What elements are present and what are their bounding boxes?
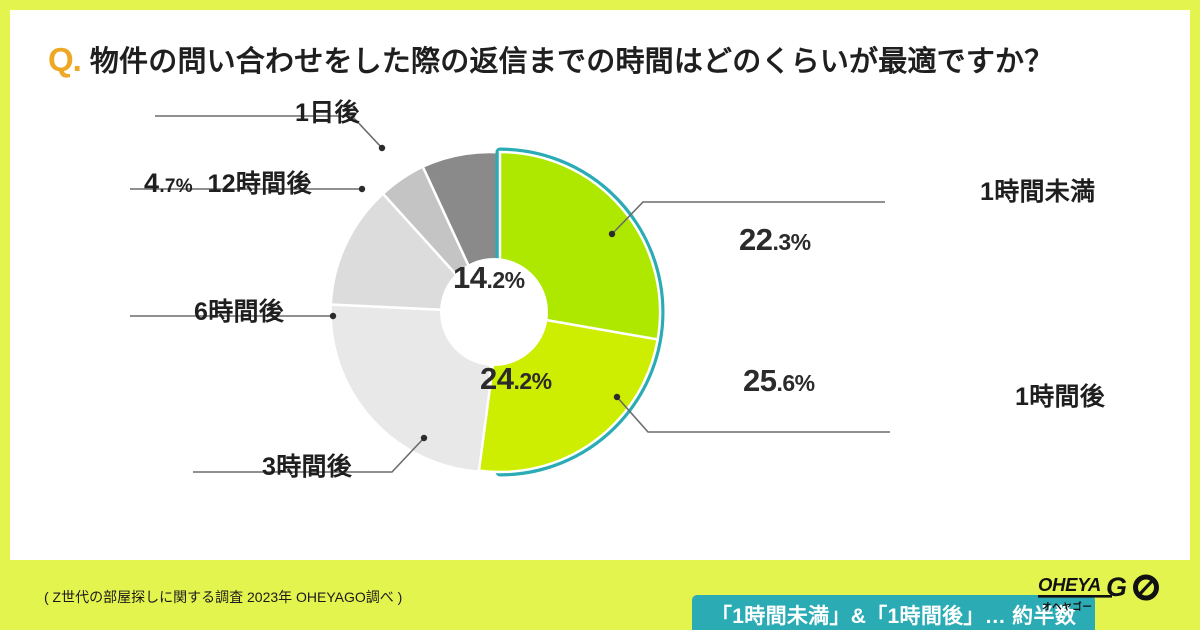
logo-underline [1038, 595, 1112, 598]
logo-o-slash [1139, 580, 1153, 595]
slice-value-6hours: 14.2% [453, 260, 525, 296]
page-title: Q. 物件の問い合わせをした際の返信までの時間はどのくらいが最適ですか？ [48, 38, 1053, 80]
source-note: ( Z世代の部屋探しに関する調査 2023年 OHEYAGO調べ ) [44, 587, 402, 607]
callout-label-under1hour: 1時間未満 [980, 172, 1095, 208]
leader-line-1hour [614, 394, 890, 432]
logo-kana-text: オヘヤゴー [1042, 601, 1093, 613]
callout-label-12hours: 4.7% 12時間後 [144, 164, 312, 200]
logo-go-text: G [1106, 572, 1127, 602]
content-card: Q. 物件の問い合わせをした際の返信までの時間はどのくらいが最適ですか？ [10, 10, 1190, 560]
summary-badge: 「1時間未満」&「1時間後」… 約半数 [692, 595, 1095, 630]
summary-badge-text: 「1時間未満」&「1時間後」… 約半数 [711, 600, 1076, 630]
callout-label-6hours: 6時間後 [194, 292, 284, 328]
question-mark-label: Q. [48, 41, 81, 79]
pie-chart: 9.0% 14.2% 24.2% 22.3% 25.6% 1日後 4.7% 12… [10, 92, 1190, 562]
slice-value-1day: 9.0% [642, 171, 697, 207]
question-text: 物件の問い合わせをした際の返信までの時間はどのくらいが最適ですか？ [90, 38, 1054, 80]
callout-label-3hours: 3時間後 [262, 447, 352, 483]
callout-label-1day: 1日後 [295, 93, 360, 129]
oheyago-logo: OHEYA G オヘヤゴー [1036, 570, 1160, 616]
logo-oheya-text: OHEYA [1038, 574, 1101, 595]
slice-value-3hours: 24.2% [480, 361, 552, 397]
callout-label-1hour: 1時間後 [1015, 377, 1105, 413]
slice-value-under1hour: 22.3% [739, 222, 811, 258]
slice-value-1hour: 25.6% [743, 363, 815, 399]
